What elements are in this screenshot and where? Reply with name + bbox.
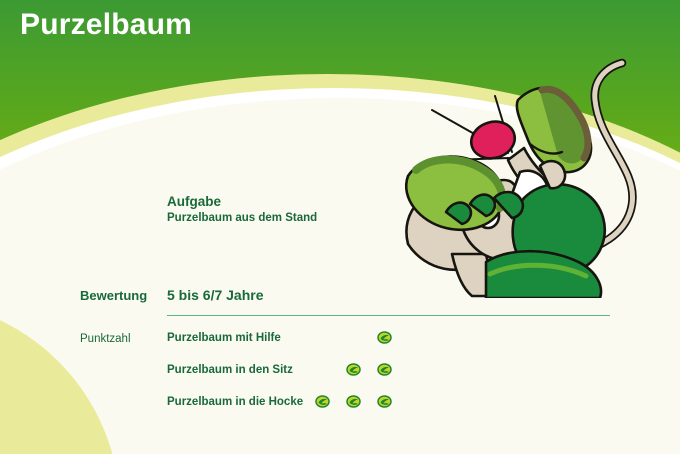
task-block: Aufgabe Purzelbaum aus dem Stand [167,194,317,226]
score-token-icon [315,395,330,408]
score-row-label: Purzelbaum in die Hocke [167,396,303,408]
rating-value: 5 bis 6/7 Jahre [167,287,264,303]
page-title: Purzelbaum [20,8,192,41]
score-token-icon [377,331,392,344]
score-token-icon [377,363,392,376]
score-list: Purzelbaum mit Hilfe Purzelbaum in den S… [167,331,467,427]
page-root: Purzelbaum [0,0,680,454]
task-description: Purzelbaum aus dem Stand [167,211,317,226]
score-row-label: Purzelbaum mit Hilfe [167,332,281,344]
score-token-icon [377,395,392,408]
section-divider [167,315,610,316]
score-row: Purzelbaum in die Hocke [167,395,467,427]
score-row: Purzelbaum mit Hilfe [167,331,467,363]
score-label: Punktzahl [80,333,131,345]
score-row-label: Purzelbaum in den Sitz [167,364,293,376]
rating-label: Bewertung [80,288,147,303]
task-heading: Aufgabe [167,194,317,210]
rating-row: Bewertung 5 bis 6/7 Jahre [80,288,640,308]
score-token-icon [346,363,361,376]
score-row: Purzelbaum in den Sitz [167,363,467,395]
score-token-icon [346,395,361,408]
